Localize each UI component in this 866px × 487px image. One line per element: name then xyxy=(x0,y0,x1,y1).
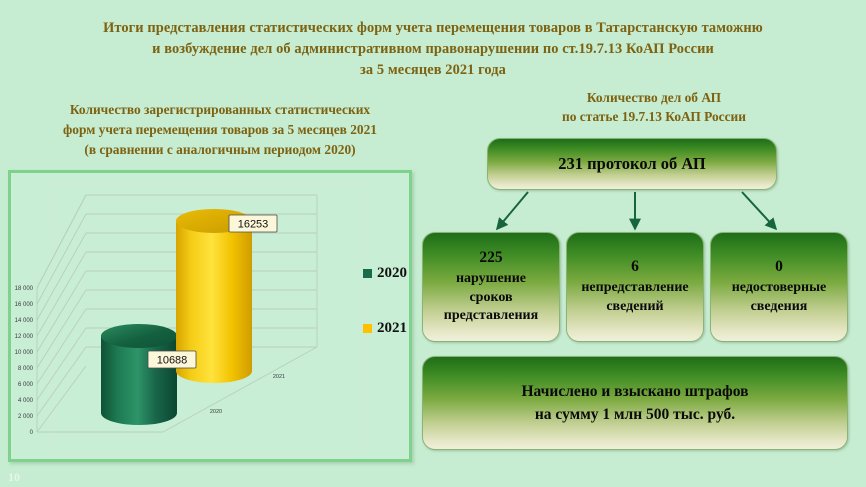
title-line-1: Итоги представления статистических форм … xyxy=(0,18,866,39)
y-tick-14000: 14 000 xyxy=(15,318,34,324)
data-label-2021: 16253 xyxy=(229,215,277,232)
violation-box-deadline-number: 225 xyxy=(444,249,538,268)
left-heading-line-1: Количество зарегистрированных статистиче… xyxy=(4,100,436,120)
protocol-count-text: 231 протокол об АП xyxy=(558,154,705,174)
fines-total-box: Начислено и взыскано штрафов на сумму 1 … xyxy=(422,356,848,450)
bar-chart-3d: 16253 10688 18 000 16 000 14 000 12 000 … xyxy=(11,173,415,465)
title-line-3: за 5 месяцев 2021 года xyxy=(0,60,866,81)
violation-box-nonsubmission: 6 непредставление сведений xyxy=(566,232,704,342)
data-label-2020: 10688 xyxy=(148,351,196,368)
legend-swatch-2021-icon xyxy=(363,324,372,333)
legend-label-2021: 2021 xyxy=(377,320,407,337)
right-section-heading: Количество дел об АП по статье 19.7.13 К… xyxy=(452,88,856,126)
arrow-to-box-a xyxy=(497,192,528,229)
legend-label-2020: 2020 xyxy=(377,265,407,282)
data-label-2020-text: 10688 xyxy=(157,355,188,367)
page-title: Итоги представления статистических форм … xyxy=(0,18,866,81)
violation-box-falseinfo-line2: сведения xyxy=(732,298,827,317)
y-tick-8000: 8 000 xyxy=(18,366,34,372)
y-tick-2000: 2 000 xyxy=(18,414,34,420)
left-heading-line-3: (в сравнении с аналогичным периодом 2020… xyxy=(4,140,436,160)
violation-box-falseinfo-line1: недостоверные xyxy=(732,279,827,298)
violation-box-falseinfo: 0 недостоверные сведения xyxy=(710,232,848,342)
x-tick-2020: 2020 xyxy=(210,409,222,415)
violation-box-deadline-line1: нарушение xyxy=(444,270,538,289)
legend-item-2020: 2020 xyxy=(363,265,423,282)
violation-box-nonsubmission-number: 6 xyxy=(581,258,688,277)
violation-box-deadline-line2: сроков xyxy=(444,289,538,308)
violation-box-nonsubmission-line2: сведений xyxy=(581,298,688,317)
violation-box-deadline-line3: представления xyxy=(444,307,538,326)
violation-box-deadline: 225 нарушение сроков представления xyxy=(422,232,560,342)
bar-2020 xyxy=(101,324,177,425)
arrow-to-box-c xyxy=(742,192,776,229)
slide-root: Итоги представления статистических форм … xyxy=(0,0,866,487)
violation-box-falseinfo-number: 0 xyxy=(732,258,827,277)
fines-total-line1: Начислено и взыскано штрафов xyxy=(522,380,749,403)
y-tick-18000: 18 000 xyxy=(15,286,34,292)
data-label-2021-text: 16253 xyxy=(238,219,269,231)
y-tick-0: 0 xyxy=(30,430,34,436)
legend-item-2021: 2021 xyxy=(363,320,423,337)
protocol-count-box: 231 протокол об АП xyxy=(487,138,777,190)
left-section-heading: Количество зарегистрированных статистиче… xyxy=(4,100,436,160)
fines-total-line2: на сумму 1 млн 500 тыс. руб. xyxy=(522,403,749,426)
right-heading-line-1: Количество дел об АП xyxy=(452,88,856,107)
right-heading-line-2: по статье 19.7.13 КоАП России xyxy=(452,107,856,126)
y-tick-4000: 4 000 xyxy=(18,398,34,404)
chart-legend: 2020 2021 xyxy=(363,265,423,375)
title-line-2: и возбуждение дел об административном пр… xyxy=(0,39,866,60)
y-axis-ticks: 18 000 16 000 14 000 12 000 10 000 8 000… xyxy=(15,286,34,436)
y-tick-6000: 6 000 xyxy=(18,382,34,388)
y-tick-16000: 16 000 xyxy=(15,302,34,308)
x-tick-2021: 2021 xyxy=(273,374,285,380)
y-tick-12000: 12 000 xyxy=(15,334,34,340)
left-heading-line-2: форм учета перемещения товаров за 5 меся… xyxy=(4,120,436,140)
page-number: 10 xyxy=(8,470,20,485)
violation-box-nonsubmission-line1: непредставление xyxy=(581,279,688,298)
legend-swatch-2020-icon xyxy=(363,269,372,278)
y-tick-10000: 10 000 xyxy=(15,350,34,356)
chart-panel: 16253 10688 18 000 16 000 14 000 12 000 … xyxy=(8,170,412,462)
